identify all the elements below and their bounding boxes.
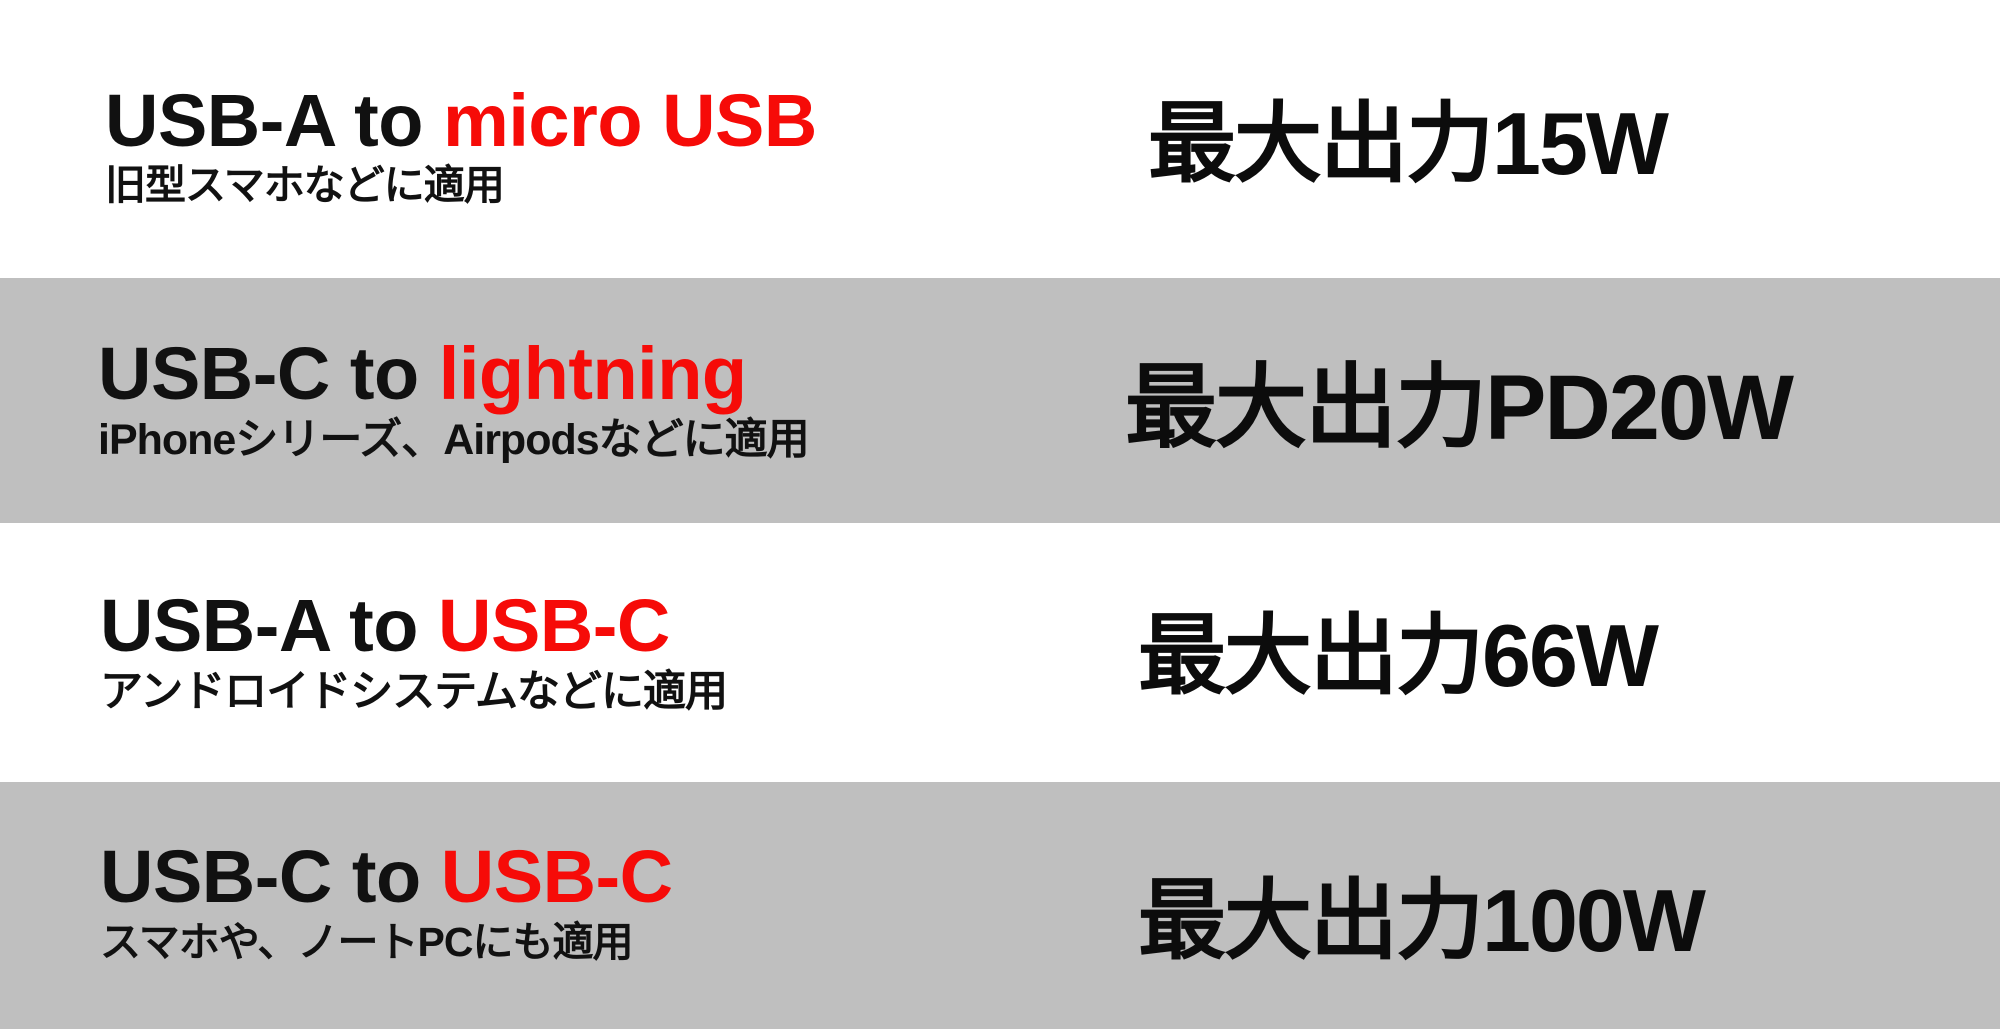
cable-type-title: USB-C to USB-C (100, 839, 1090, 914)
power-output-value: 最大出力66W (1138, 612, 1657, 700)
cable-type-highlight: USB-C (441, 835, 673, 918)
cable-type-cell: USB-C to USB-C スマホや、ノートPCにも適用 (0, 839, 1090, 972)
power-output-cell: 最大出力100W (1090, 847, 2000, 965)
cable-type-title: USB-A to micro USB (105, 83, 1090, 158)
power-output-value: 最大出力15W (1148, 100, 1667, 188)
power-output-cell: 最大出力PD20W (1090, 348, 2000, 454)
cable-type-prefix: USB-A to (105, 79, 443, 162)
cable-type-prefix: USB-A to (100, 584, 438, 667)
table-row: USB-C to USB-C スマホや、ノートPCにも適用 最大出力100W (0, 782, 2000, 1029)
cable-type-subtitle: スマホや、ノートPCにも適用 (100, 919, 1090, 966)
cable-type-cell: USB-C to lightning iPhoneシリーズ、Airpodsなどに… (0, 336, 1090, 465)
table-row: USB-A to micro USB 旧型スマホなどに適用 最大出力15W (0, 0, 2000, 278)
cable-type-subtitle: iPhoneシリーズ、Airpodsなどに適用 (98, 416, 1090, 465)
cable-type-subtitle: 旧型スマホなどに適用 (105, 162, 1090, 209)
cable-type-highlight: USB-C (438, 584, 670, 667)
table-row: USB-A to USB-C アンドロイドシステムなどに適用 最大出力66W (0, 523, 2000, 782)
cable-type-highlight: micro USB (443, 79, 817, 162)
cable-type-subtitle: アンドロイドシステムなどに適用 (100, 668, 1090, 717)
power-output-cell: 最大出力15W (1090, 90, 2000, 188)
cable-type-cell: USB-A to micro USB 旧型スマホなどに適用 (0, 69, 1090, 210)
power-output-cell: 最大出力66W (1090, 606, 2000, 700)
table-row: USB-C to lightning iPhoneシリーズ、Airpodsなどに… (0, 278, 2000, 523)
power-output-value: 最大出力100W (1138, 877, 1704, 965)
cable-type-title: USB-A to USB-C (100, 588, 1090, 663)
power-output-value: 最大出力PD20W (1125, 362, 1792, 454)
cable-type-cell: USB-A to USB-C アンドロイドシステムなどに適用 (0, 588, 1090, 717)
cable-spec-table: USB-A to micro USB 旧型スマホなどに適用 最大出力15W US… (0, 0, 2000, 1029)
cable-type-title: USB-C to lightning (98, 336, 1090, 411)
cable-type-prefix: USB-C to (100, 835, 441, 918)
cable-type-highlight: lightning (439, 332, 747, 415)
cable-type-prefix: USB-C to (98, 332, 439, 415)
